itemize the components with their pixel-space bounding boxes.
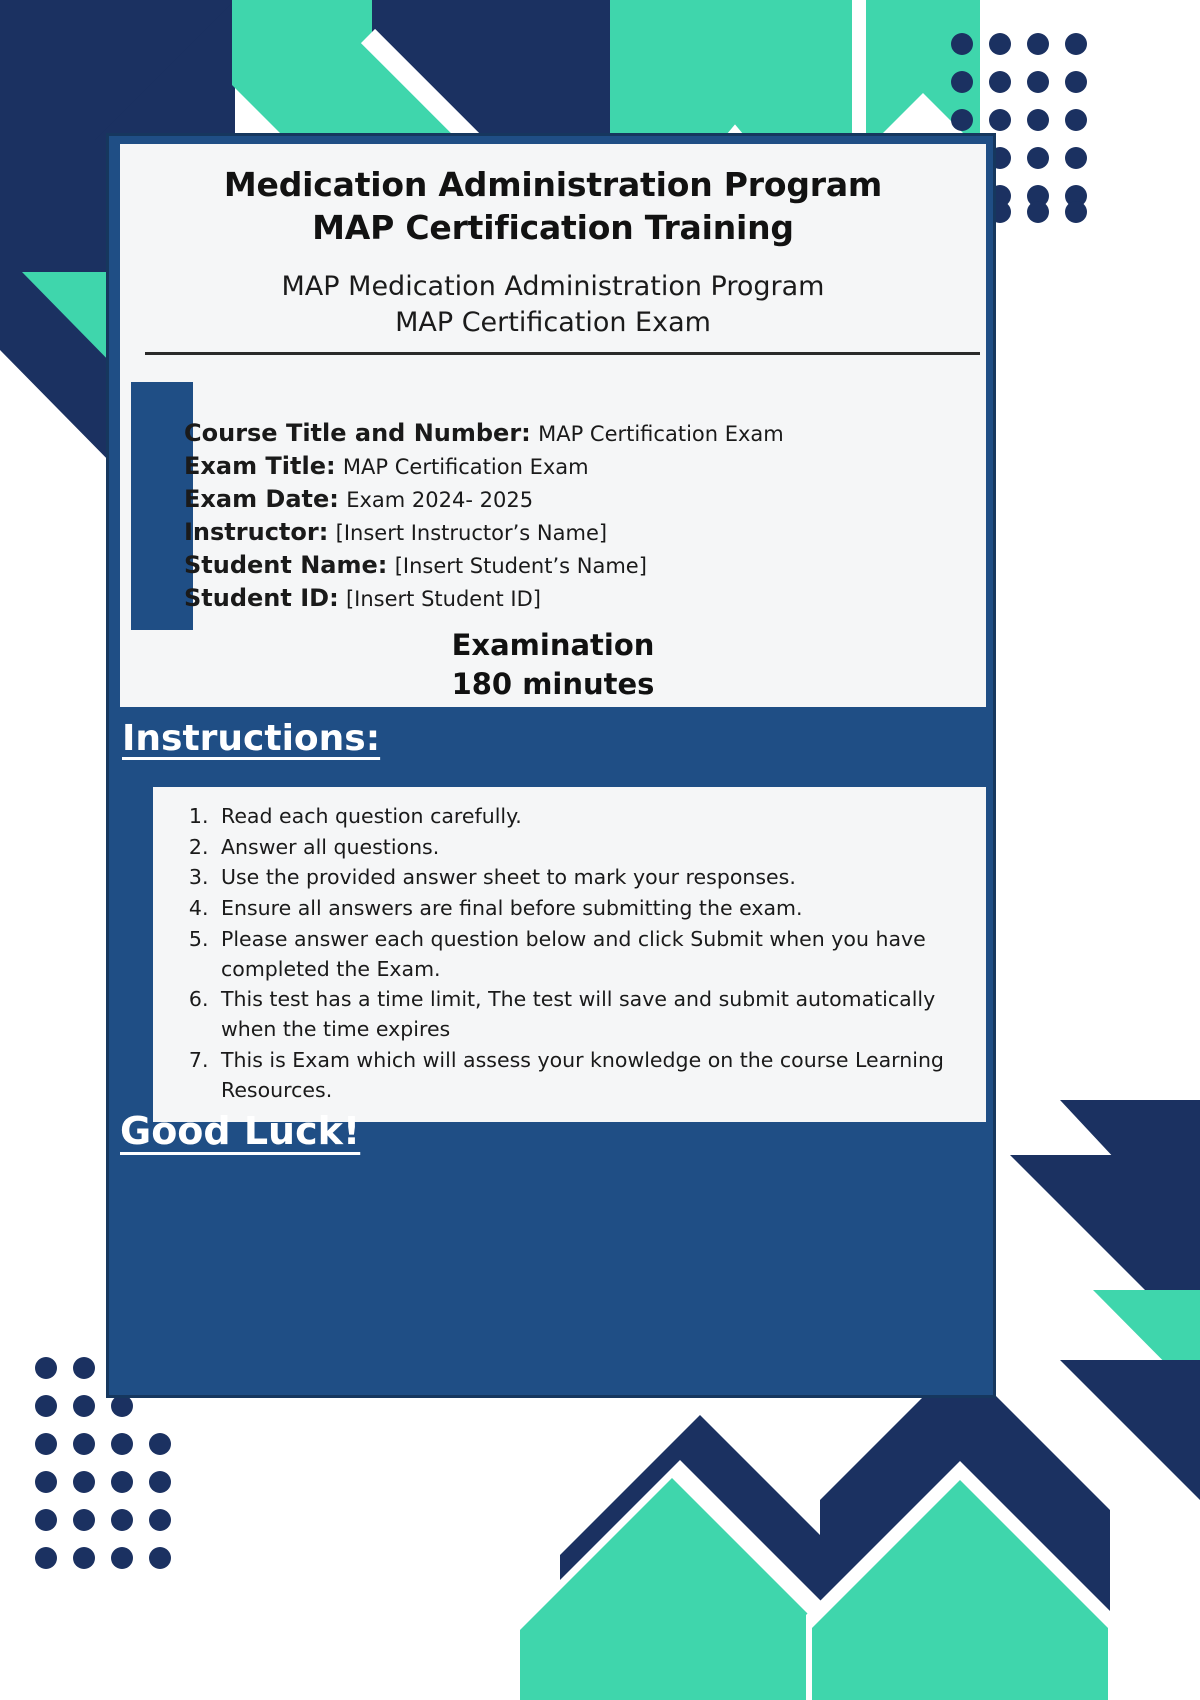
detail-value-student-id: [Insert Student ID]	[346, 587, 541, 611]
list-item: This is Exam which will assess your know…	[215, 1045, 964, 1105]
left-navy-wedge	[0, 140, 120, 470]
examination-duration: 180 minutes	[120, 665, 986, 704]
detail-row-course: Course Title and Number: MAP Certificati…	[184, 417, 974, 450]
list-item: Read each question carefully.	[215, 801, 964, 831]
detail-label-student-name: Student Name:	[184, 551, 387, 579]
document-title: Medication Administration Program MAP Ce…	[120, 164, 986, 250]
detail-row-exam-date: Exam Date: Exam 2024- 2025	[184, 483, 974, 516]
detail-value-course: MAP Certification Exam	[538, 422, 784, 446]
examination-heading: Examination	[120, 626, 986, 665]
bottom-zigzag	[520, 1360, 1114, 1700]
list-item: This test has a time limit, The test wil…	[215, 984, 964, 1044]
instructions-heading: Instructions:	[120, 719, 986, 759]
detail-row-exam-title: Exam Title: MAP Certification Exam	[184, 450, 974, 483]
detail-value-exam-title: MAP Certification Exam	[343, 455, 589, 479]
detail-label-student-id: Student ID:	[184, 584, 339, 612]
detail-row-student-name: Student Name: [Insert Student’s Name]	[184, 549, 974, 582]
detail-row-instructor: Instructor: [Insert Instructor’s Name]	[184, 516, 974, 549]
instructions-heading-wrap: Instructions:	[120, 719, 986, 759]
list-item: Use the provided answer sheet to mark yo…	[215, 862, 964, 892]
detail-value-exam-date: Exam 2024- 2025	[346, 488, 533, 512]
document-subtitle: MAP Medication Administration Program MA…	[120, 269, 986, 341]
detail-label-exam-title: Exam Title:	[184, 452, 336, 480]
header-panel: Medication Administration Program MAP Ce…	[120, 144, 986, 707]
right-teal-triangle	[1093, 1290, 1200, 1398]
instructions-list: Read each question carefully. Answer all…	[153, 801, 976, 1105]
document-page: Medication Administration Program MAP Ce…	[0, 0, 1200, 1700]
instructions-panel: Read each question carefully. Answer all…	[153, 787, 986, 1122]
right-navy-triangle	[1010, 1100, 1200, 1345]
examination-block: Examination 180 minutes	[120, 626, 986, 703]
detail-label-exam-date: Exam Date:	[184, 485, 339, 513]
closing-message: Good Luck!	[120, 1111, 360, 1153]
title-line-2: MAP Certification Training	[120, 207, 986, 250]
list-item: Ensure all answers are final before subm…	[215, 893, 964, 923]
subtitle-line-2: MAP Certification Exam	[120, 305, 986, 341]
detail-value-student-name: [Insert Student’s Name]	[395, 554, 647, 578]
detail-value-instructor: [Insert Instructor’s Name]	[336, 521, 607, 545]
detail-row-student-id: Student ID: [Insert Student ID]	[184, 582, 974, 615]
exam-details-list: Course Title and Number: MAP Certificati…	[184, 417, 974, 615]
subtitle-line-1: MAP Medication Administration Program	[120, 269, 986, 305]
title-line-1: Medication Administration Program	[120, 164, 986, 207]
left-teal-triangle	[0, 232, 118, 392]
exam-cover-card: Medication Administration Program MAP Ce…	[106, 133, 996, 1398]
header-divider	[145, 352, 980, 355]
detail-label-instructor: Instructor:	[184, 518, 328, 546]
detail-label-course: Course Title and Number:	[184, 419, 531, 447]
list-item: Answer all questions.	[215, 832, 964, 862]
list-item: Please answer each question below and cl…	[215, 924, 964, 984]
right-lower-navy-triangle	[1060, 1360, 1200, 1500]
